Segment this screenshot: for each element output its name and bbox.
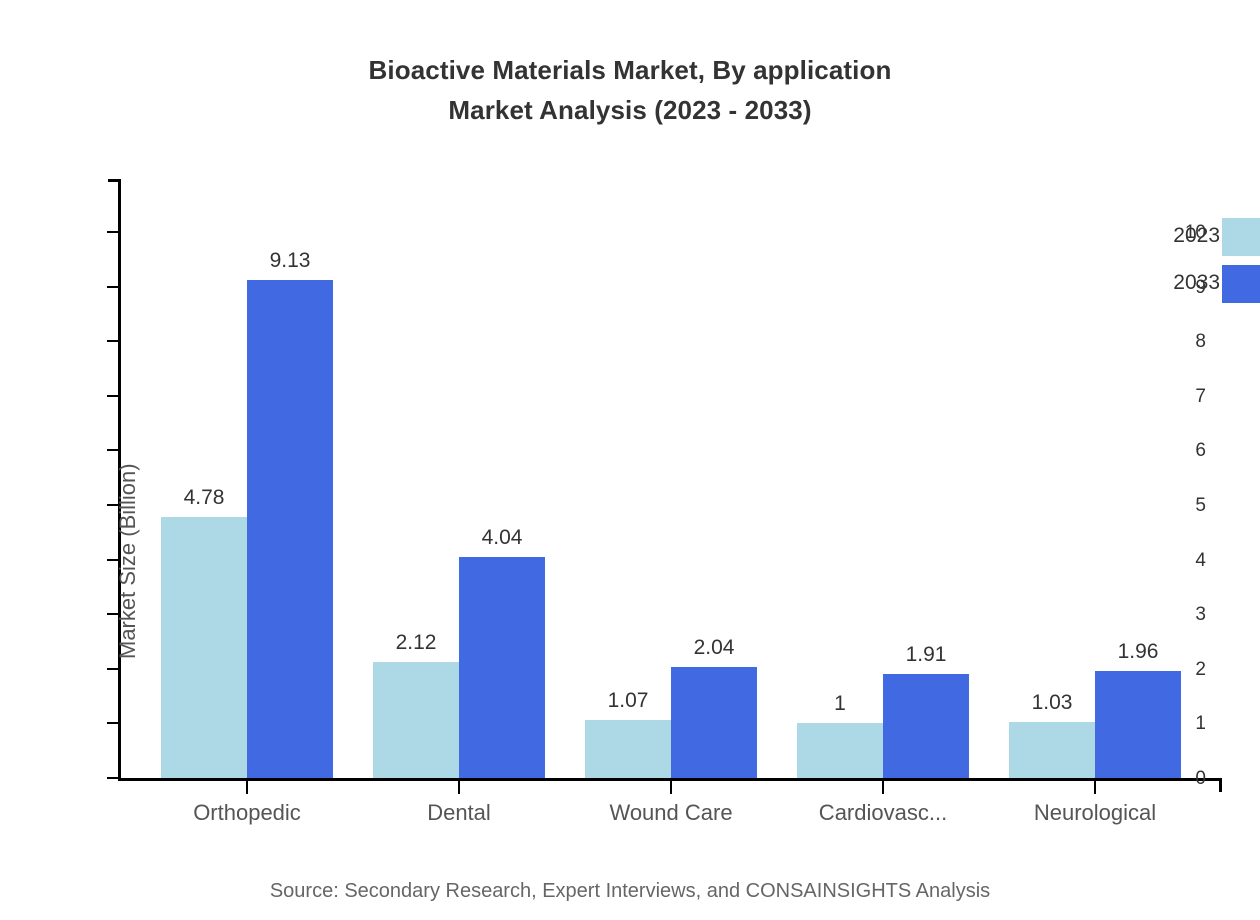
chart-title-line-1: Bioactive Materials Market, By applicati… — [0, 50, 1260, 90]
bar-value-label: 1.96 — [1118, 641, 1159, 662]
y-tick-6 — [107, 449, 118, 451]
x-tick-3 — [882, 781, 884, 794]
x-axis-label-orthopedic: Orthopedic — [193, 800, 301, 826]
bar-chart: Bioactive Materials Market, By applicati… — [0, 0, 1260, 920]
x-axis-label-cardiovasc: Cardiovasc... — [819, 800, 947, 826]
bar-value-label: 1.07 — [608, 690, 649, 711]
legend-label-2023: 2023 — [1173, 224, 1220, 248]
bar-2023-cardiovasc[interactable] — [797, 723, 883, 778]
y-tick-label-8: 8 — [1195, 332, 1206, 351]
bar-value-label: 1 — [834, 693, 846, 714]
y-axis-title: Market Size (Billion) — [117, 463, 139, 659]
y-tick-10 — [107, 231, 118, 233]
y-tick-2 — [107, 668, 118, 670]
legend-swatch-2023 — [1222, 218, 1260, 256]
y-tick-label-0: 0 — [1195, 769, 1206, 788]
legend-label-2033: 2033 — [1173, 271, 1220, 295]
bar-2023-dental[interactable] — [373, 662, 459, 778]
plot-area: 012345678910 OrthopedicDentalWound CareC… — [118, 179, 1222, 781]
bar-value-label: 1.03 — [1032, 692, 1073, 713]
bar-value-label: 2.04 — [694, 637, 735, 658]
legend-swatch-2033 — [1222, 265, 1260, 303]
y-tick-8 — [107, 340, 118, 342]
y-tick-label-7: 7 — [1195, 387, 1206, 406]
y-tick-label-3: 3 — [1195, 605, 1206, 624]
x-tick-2 — [670, 781, 672, 794]
y-tick-7 — [107, 395, 118, 397]
bar-2033-wound-care[interactable] — [671, 667, 757, 778]
bar-2033-orthopedic[interactable] — [247, 280, 333, 778]
bar-2033-cardiovasc[interactable] — [883, 674, 969, 778]
bar-value-label: 2.12 — [396, 632, 437, 653]
x-tick-0 — [246, 781, 248, 794]
legend-item-2033[interactable]: 2033 — [1130, 265, 1260, 303]
x-tick-1 — [458, 781, 460, 794]
x-axis-label-neurological: Neurological — [1034, 800, 1156, 826]
y-tick-label-1: 1 — [1195, 714, 1206, 733]
bar-2033-dental[interactable] — [459, 557, 545, 778]
y-tick-label-2: 2 — [1195, 660, 1206, 679]
bar-2023-wound-care[interactable] — [585, 720, 671, 778]
y-tick-9 — [107, 286, 118, 288]
bar-2023-neurological[interactable] — [1009, 722, 1095, 778]
x-axis-label-dental: Dental — [427, 800, 491, 826]
bar-value-label: 4.78 — [184, 487, 225, 508]
bar-2033-neurological[interactable] — [1095, 671, 1181, 778]
chart-title-line-2: Market Analysis (2023 - 2033) — [0, 90, 1260, 130]
y-tick-label-6: 6 — [1195, 441, 1206, 460]
x-axis-end-cap — [1219, 778, 1222, 792]
y-axis-top-cap — [108, 179, 121, 182]
chart-title: Bioactive Materials Market, By applicati… — [0, 50, 1260, 130]
bar-value-label: 4.04 — [482, 527, 523, 548]
source-note: Source: Secondary Research, Expert Inter… — [0, 878, 1260, 904]
y-tick-0 — [107, 777, 118, 779]
chart-legend: 20232033 — [1130, 210, 1260, 310]
x-axis-label-wound-care: Wound Care — [609, 800, 732, 826]
bar-2023-orthopedic[interactable] — [161, 517, 247, 778]
bar-value-label: 1.91 — [906, 644, 947, 665]
bar-value-label: 9.13 — [270, 250, 311, 271]
y-tick-label-4: 4 — [1195, 551, 1206, 570]
y-tick-1 — [107, 722, 118, 724]
x-tick-4 — [1094, 781, 1096, 794]
legend-item-2023[interactable]: 2023 — [1130, 218, 1260, 256]
y-tick-label-5: 5 — [1195, 496, 1206, 515]
